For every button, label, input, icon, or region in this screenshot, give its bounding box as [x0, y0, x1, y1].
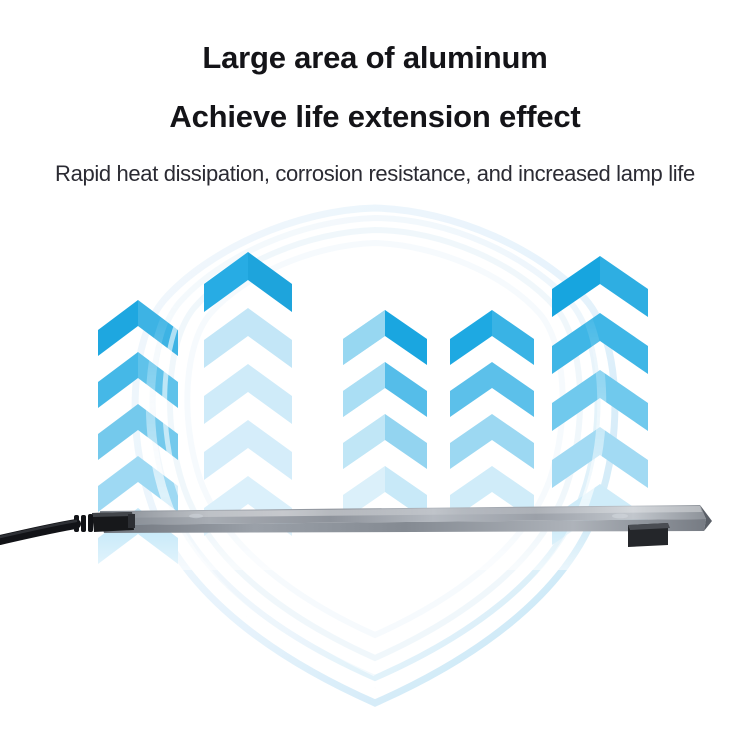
- bottom-fade: [0, 430, 750, 570]
- headline-block: Large area of aluminum Achieve life exte…: [0, 0, 750, 186]
- product-feature-banner: Large area of aluminum Achieve life exte…: [0, 0, 750, 750]
- subtitle: Rapid heat dissipation, corrosion resist…: [0, 162, 750, 186]
- headline-line-1: Large area of aluminum: [0, 42, 750, 73]
- headline-line-2: Achieve life extension effect: [0, 101, 750, 132]
